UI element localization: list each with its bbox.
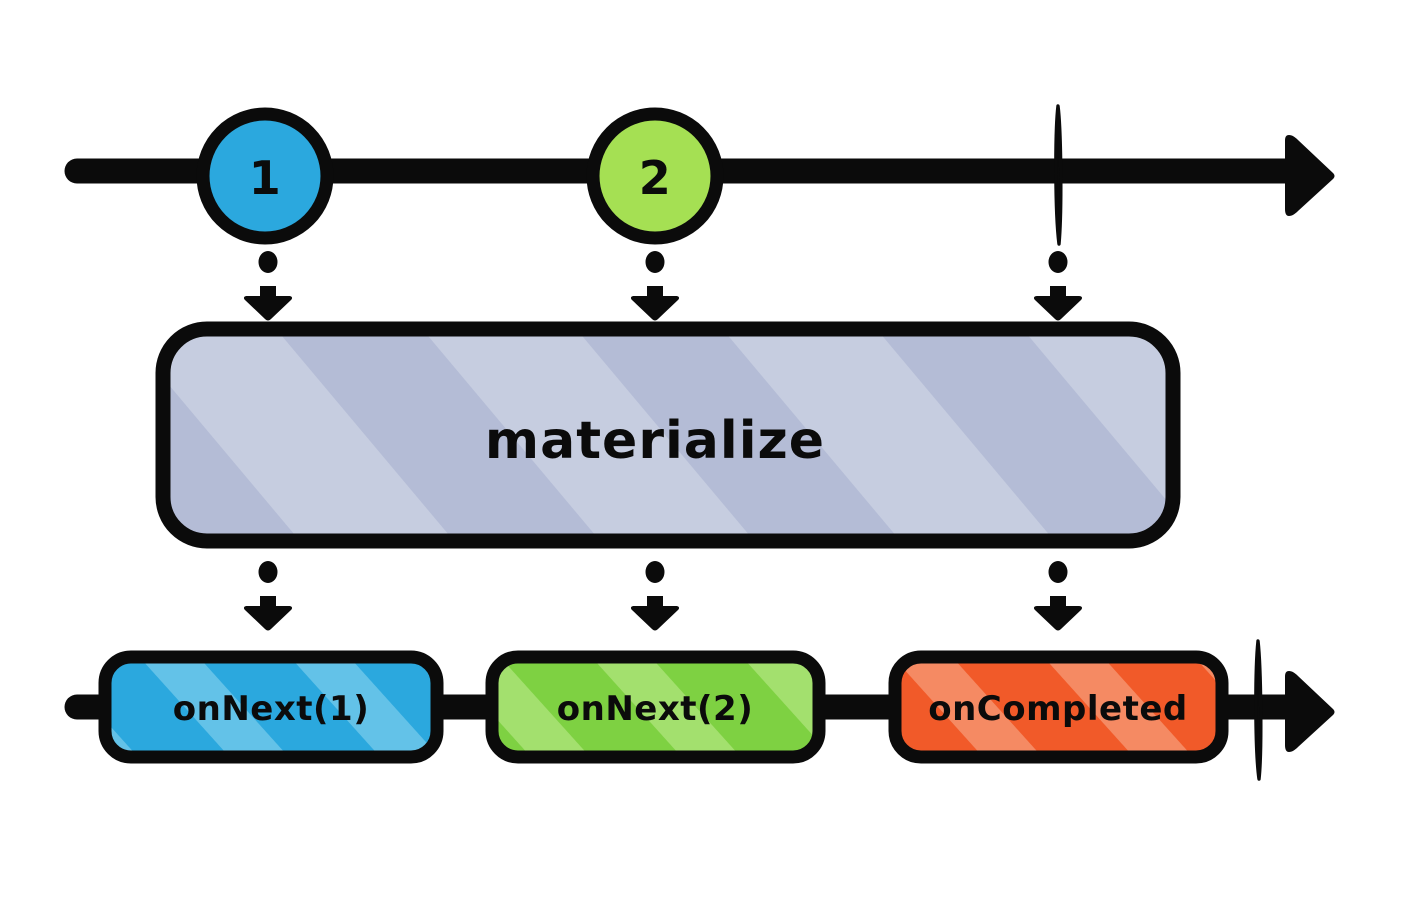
operator-box[interactable]: materialize [163,329,1173,541]
operator-label: materialize [485,411,825,471]
notification-label: onNext(1) [173,689,370,729]
source-marble-2[interactable]: 2 [593,114,717,238]
connector-down-arrow-1 [244,251,292,321]
notification-box-onnext-1[interactable]: onNext(1) [105,657,437,757]
notification-label: onNext(2) [557,689,754,729]
connector-down-arrow-3 [1034,251,1082,321]
marble-label: 1 [249,151,282,205]
source-timeline: 1 2 [77,106,1335,244]
marble-diagram-canvas: 1 2 materialize [0,0,1401,901]
output-arrow-head [1285,671,1335,752]
marble-label: 2 [639,151,672,205]
upper-connectors [244,251,1082,321]
marble-diagram-root: 1 2 materialize [0,0,1401,901]
source-completion-bar [1056,106,1061,244]
notification-box-onnext-2[interactable]: onNext(2) [492,657,819,757]
notification-box-oncompleted[interactable]: onCompleted [895,657,1222,757]
source-arrow-head [1285,135,1335,216]
connector-down-arrow-6 [1034,561,1082,631]
connector-down-arrow-4 [244,561,292,631]
source-marble-1[interactable]: 1 [203,114,327,238]
output-timeline: onNext(1) onNext(2) onCompleted [77,641,1335,779]
lower-connectors [244,561,1082,631]
connector-down-arrow-2 [631,251,679,321]
notification-label: onCompleted [928,689,1188,729]
connector-down-arrow-5 [631,561,679,631]
output-completion-bar [1256,641,1261,779]
